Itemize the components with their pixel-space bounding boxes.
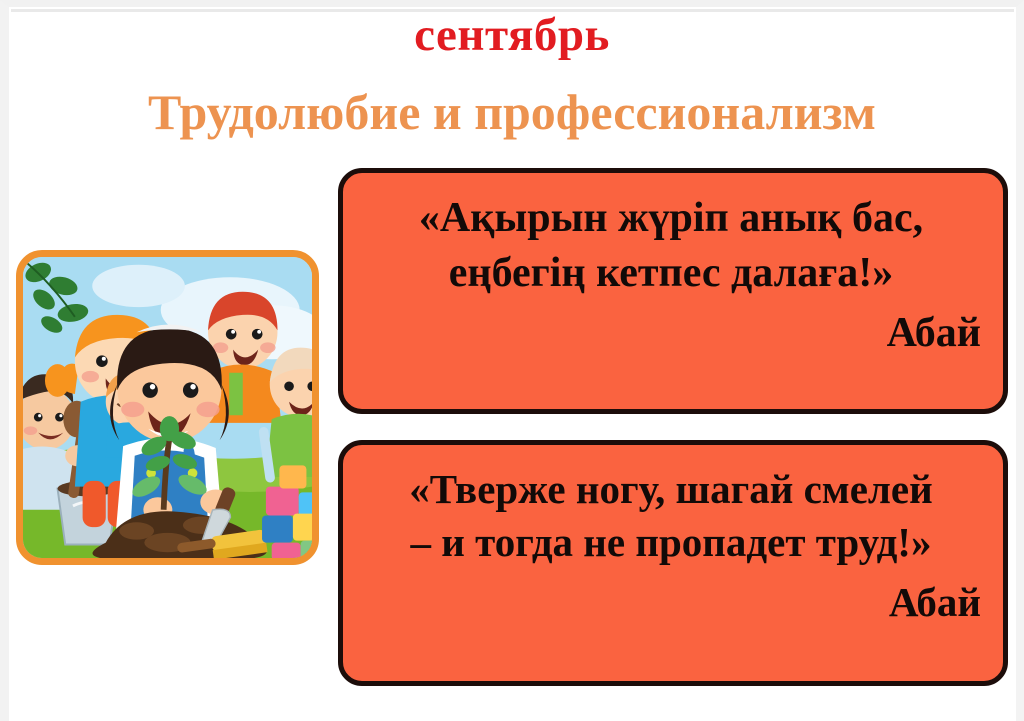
page-title-month: сентябрь [0,11,1024,60]
quote-line: «Тверже ногу, шагай смелей [361,463,981,516]
illustration-artwork-icon [23,257,312,558]
quote-author: Абай [361,576,981,629]
quote-card-russian: «Тверже ногу, шагай смелей – и тогда не … [338,440,1008,686]
slide-canvas: сентябрь Трудолюбие и профессионализм [0,0,1024,721]
illustration-children-gardening [16,250,319,565]
quote-author: Абай [361,306,981,361]
quote-line: еңбегің кетпес далаға!» [361,246,981,301]
quote-line: «Ақырын жүріп анық бас, [361,191,981,246]
quote-card-kazakh: «Ақырын жүріп анық бас, еңбегің кетпес д… [338,168,1008,414]
page-subtitle-theme: Трудолюбие и профессионализм [0,86,1024,139]
quote-line: – и тогда не пропадет труд!» [361,516,981,569]
